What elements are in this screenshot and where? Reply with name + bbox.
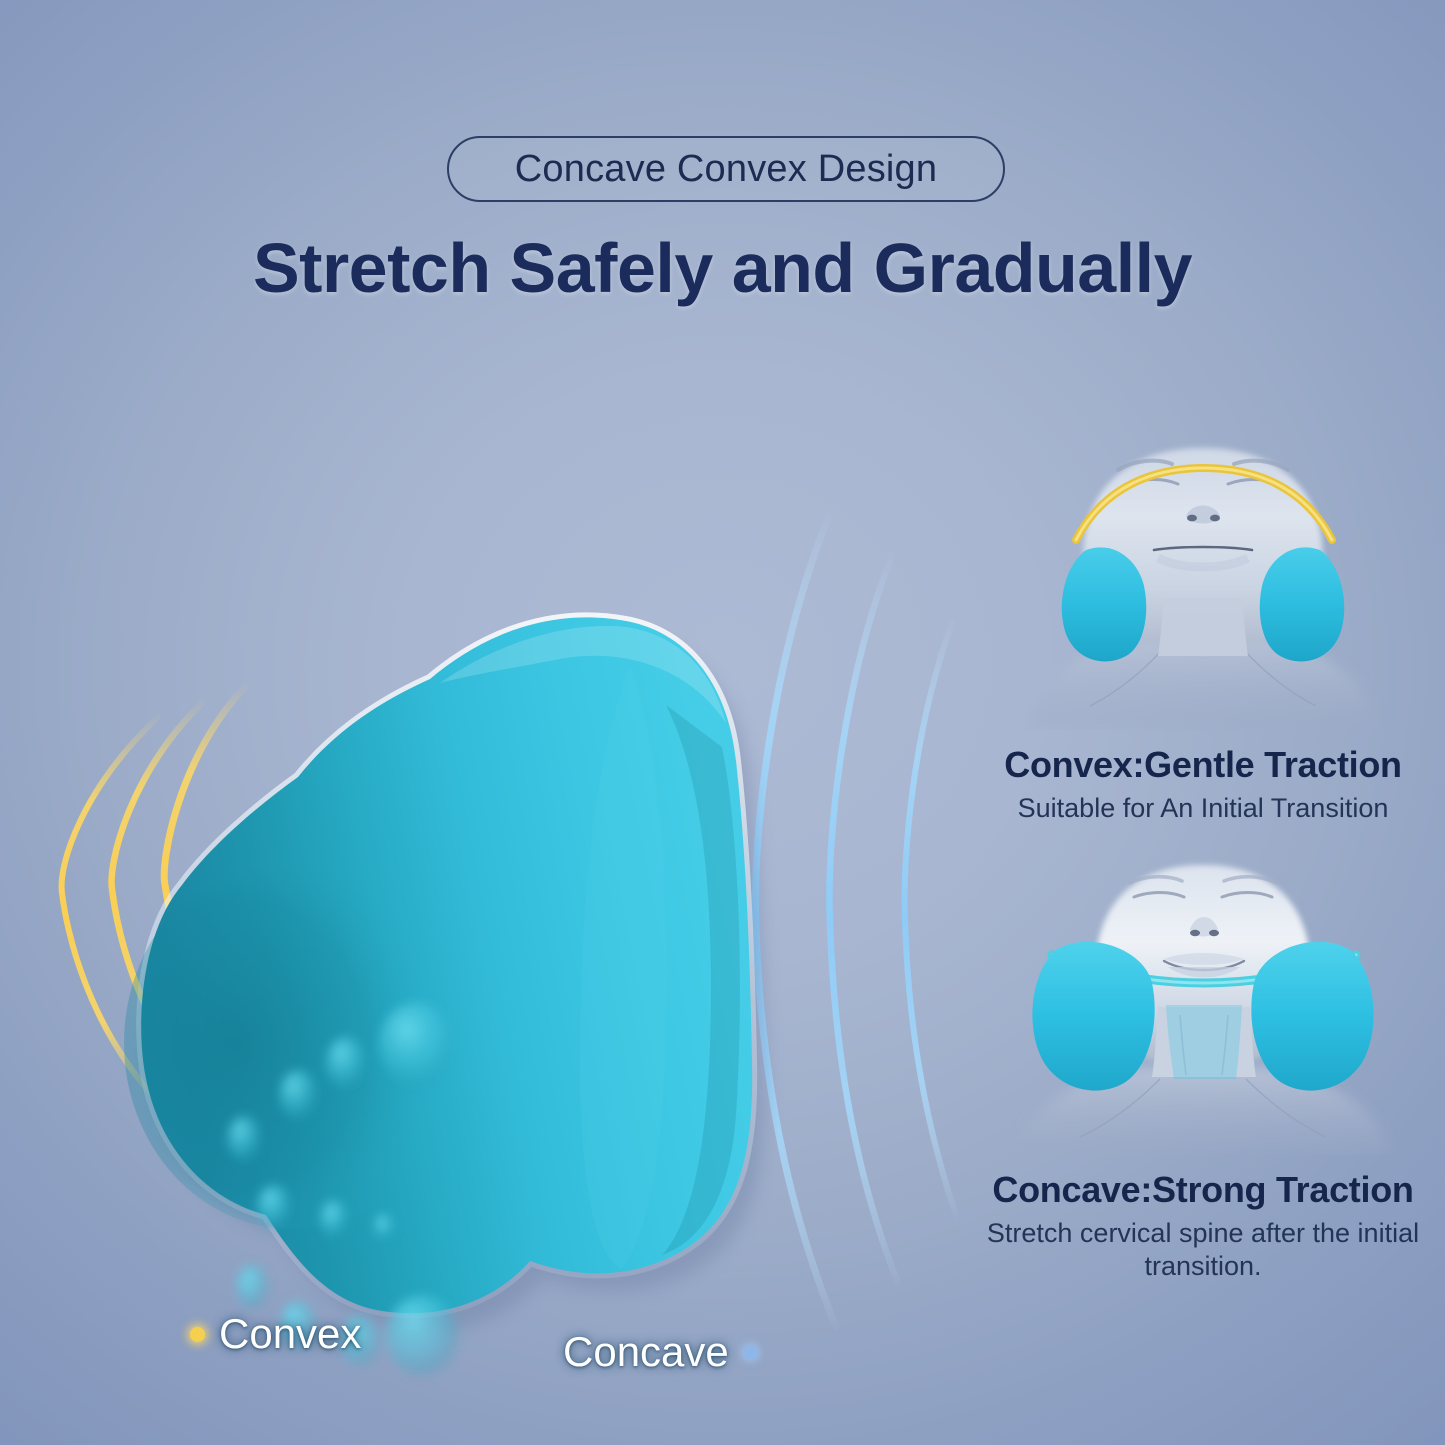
product-illustration: Convex Concave (30, 455, 990, 1335)
pillow-pad-right (1251, 942, 1373, 1091)
design-badge: Concave Convex Design (447, 136, 1005, 202)
pad-neck-overlay (1166, 1005, 1242, 1079)
concave-callout-label: Concave (563, 1328, 729, 1376)
convex-head-illustration (968, 430, 1438, 730)
convex-callout: Convex (190, 1310, 361, 1358)
pillow-pad-left (1062, 547, 1147, 661)
convex-marker-dot (190, 1327, 205, 1342)
neck-pillow-shape (30, 455, 990, 1335)
page-headline: Stretch Safely and Gradually (0, 228, 1445, 308)
infographic-page: Concave Convex Design Stretch Safely and… (0, 0, 1445, 1445)
concave-figure (968, 855, 1438, 1155)
pillow-pad-left (1032, 942, 1154, 1091)
convex-caption-title: Convex:Gentle Traction (968, 744, 1438, 786)
concave-callout: Concave (563, 1328, 758, 1376)
concave-head-illustration (968, 855, 1438, 1155)
convex-callout-label: Convex (219, 1310, 361, 1358)
pillow-pad-right (1260, 547, 1345, 661)
design-badge-label: Concave Convex Design (515, 148, 937, 191)
convex-figure (968, 430, 1438, 730)
concave-marker-dot (743, 1345, 758, 1360)
concave-caption-title: Concave:Strong Traction (968, 1169, 1438, 1211)
panel-convex: Convex:Gentle Traction Suitable for An I… (968, 430, 1438, 825)
concave-caption-subtitle: Stretch cervical spine after the initial… (968, 1217, 1438, 1283)
panel-concave: Concave:Strong Traction Stretch cervical… (968, 855, 1438, 1283)
convex-caption-subtitle: Suitable for An Initial Transition (968, 792, 1438, 825)
